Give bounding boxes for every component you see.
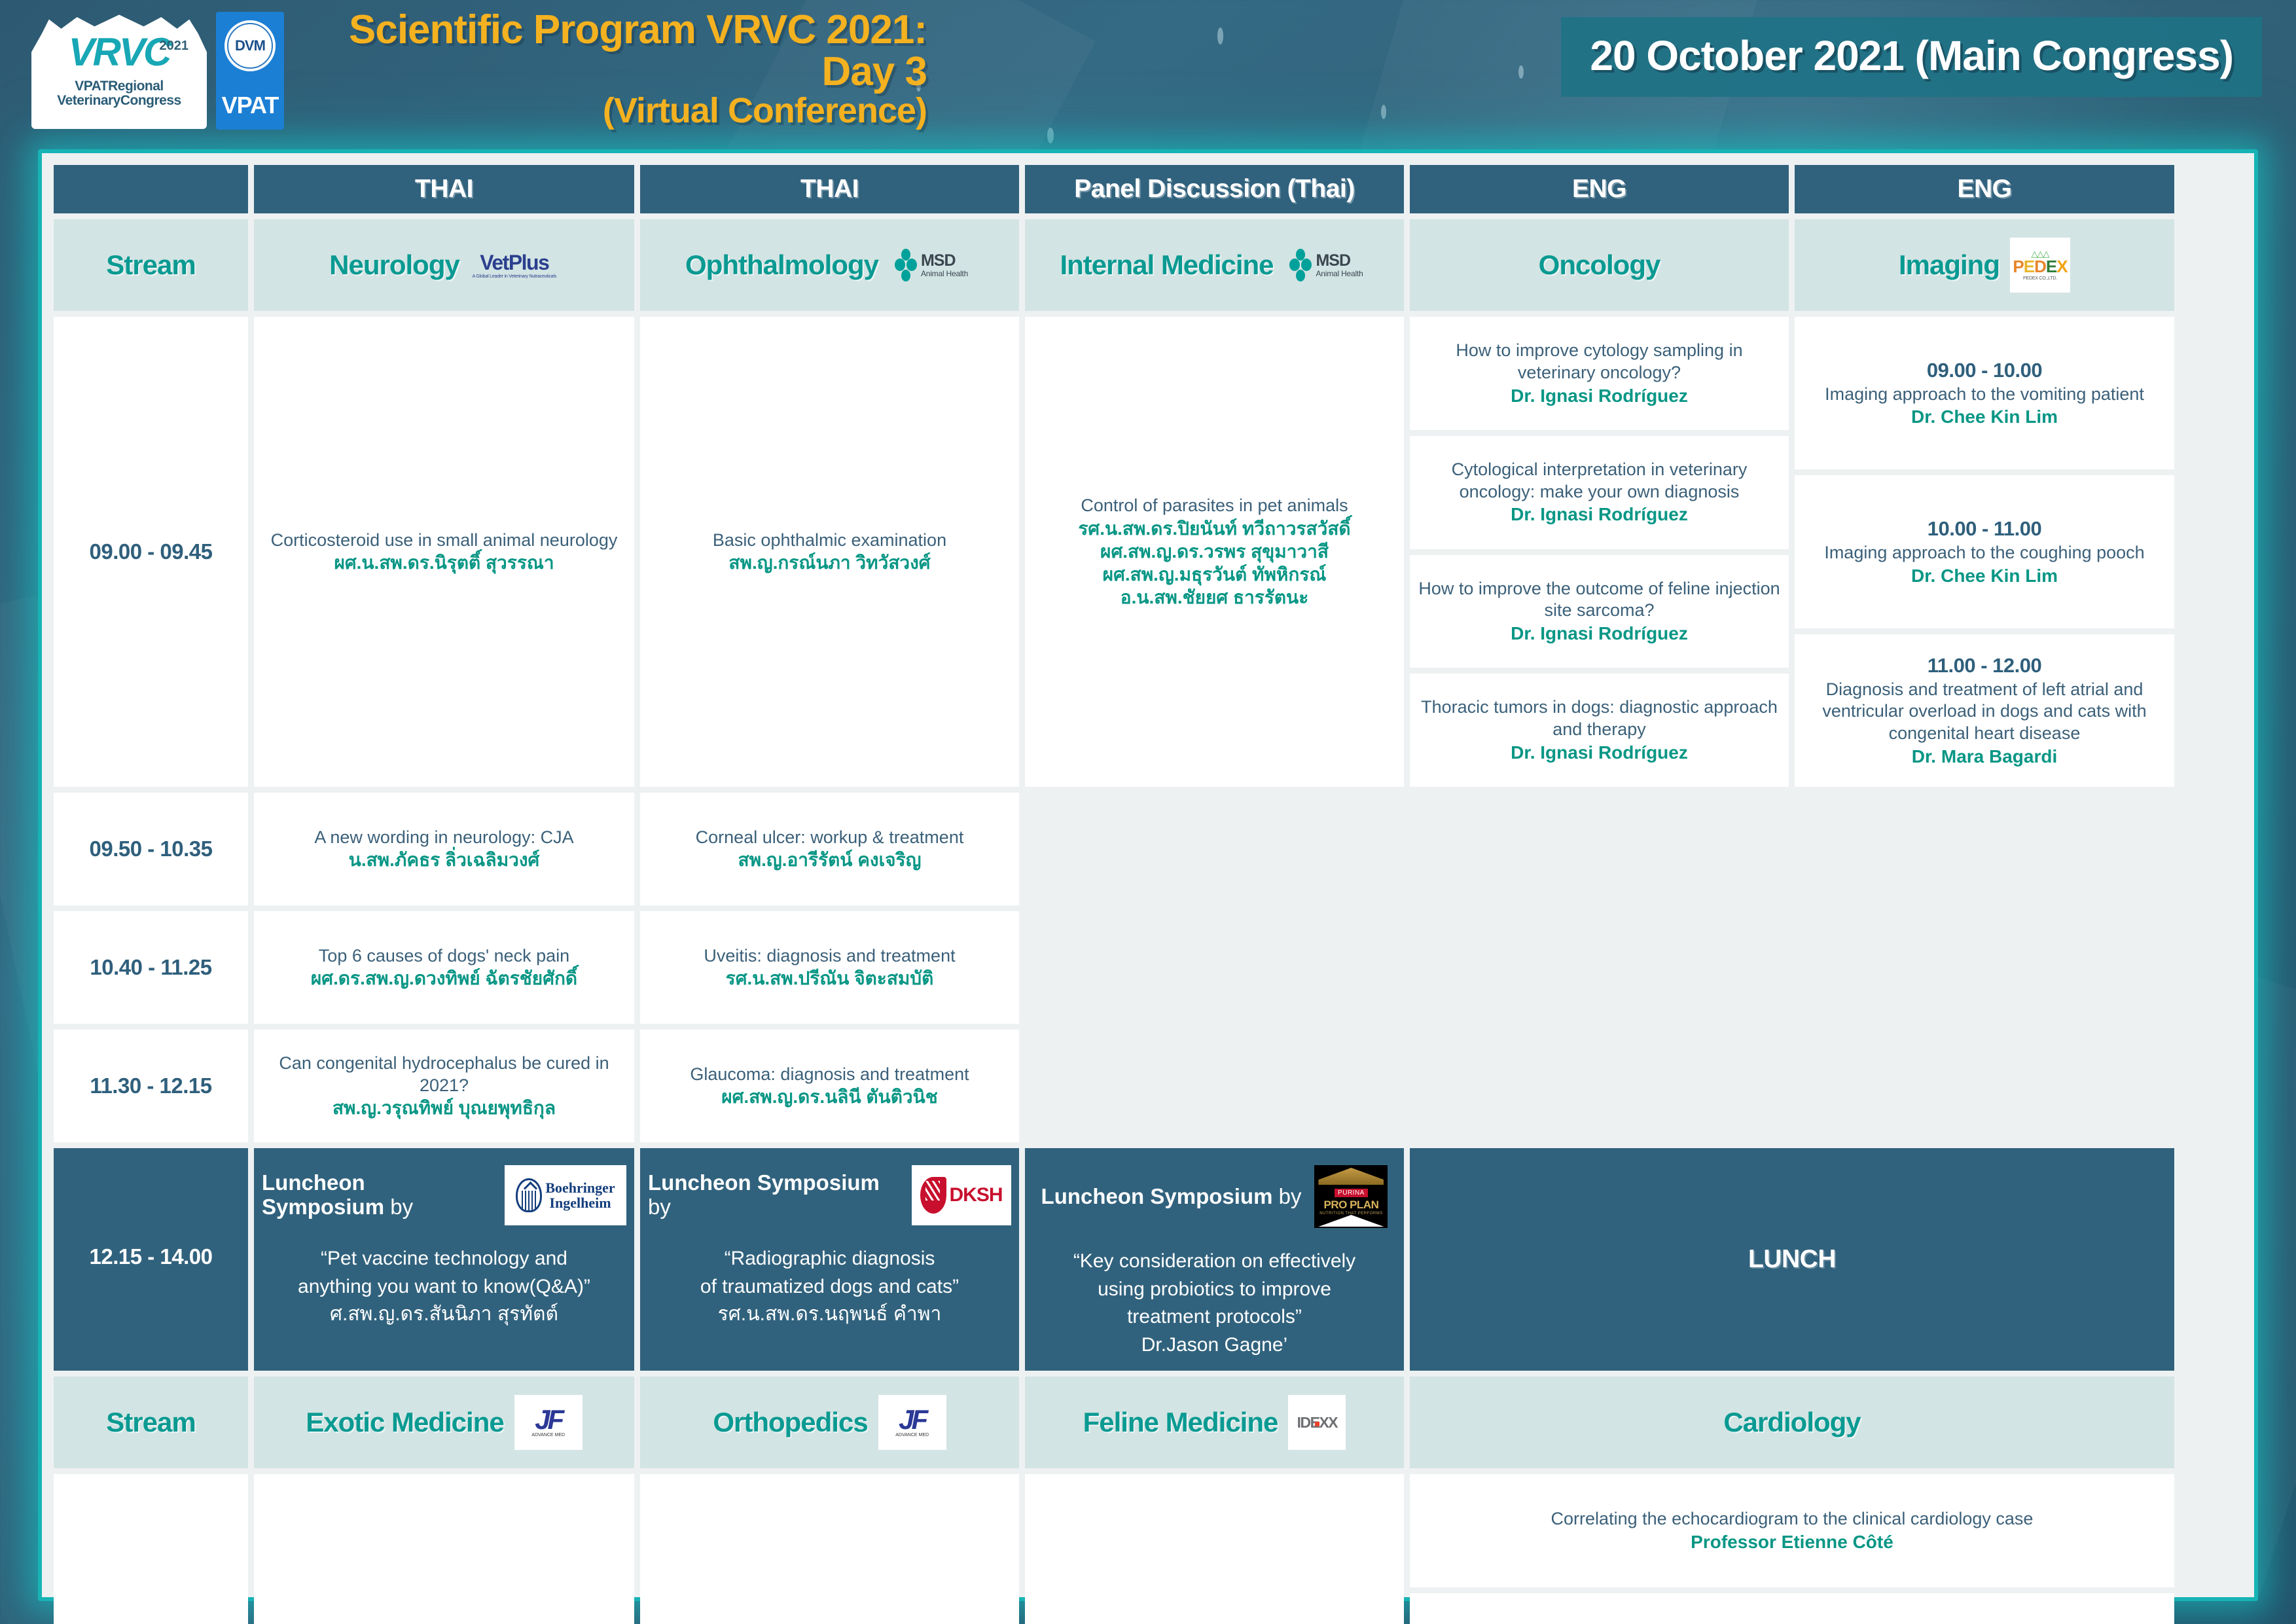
lang-cell-neurology: THAI [254, 165, 634, 213]
stream-name-imaging: Imaging [1899, 249, 2000, 281]
session-time: 10.00 - 11.00 [1928, 516, 2042, 542]
session-speaker: Dr. Ignasi Rodríguez [1511, 503, 1688, 526]
session-cell-cardiology[interactable]: Clinical approach to arrhythmias Profess… [1410, 1593, 2174, 1624]
vrvc-year-label: 2021 [160, 39, 189, 54]
page-title: Scientific Program VRVC 2021: Day 3 (Vir… [298, 0, 927, 129]
language-header-row: THAI THAI Panel Discussion (Thai) ENG EN… [54, 165, 2242, 213]
session-row-morning-1: 09.00 - 09.45 Corticosteroid use in smal… [54, 317, 2242, 787]
stream-name-neurology: Neurology [329, 249, 459, 281]
time-slot: 11.30 - 12.15 [54, 1030, 248, 1142]
luncheon-row: 12.15 - 14.00 Luncheon Symposium by Boeh… [54, 1148, 2242, 1371]
luncheon-quote-line: treatment protocols” [1073, 1303, 1355, 1331]
jf-advance-med-logo-icon: JFADVANCE MED [514, 1395, 583, 1450]
luncheon-body: “Pet vaccine technology and anything you… [298, 1245, 590, 1329]
session-speaker: Dr. Ignasi Rodríguez [1511, 622, 1688, 645]
luncheon-title: Luncheon Symposium [262, 1170, 384, 1219]
luncheon-heading: Luncheon Symposium by BoehringerIngelhei… [262, 1165, 626, 1225]
session-cell-oncology[interactable]: How to improve cytology sampling in vete… [1410, 317, 1789, 430]
session-cell-orthopedics[interactable]: Evaluation plan for MPL: how to make a g… [640, 1474, 1019, 1624]
lang-cell-empty [54, 165, 248, 213]
session-row-morning-2: 09.50 - 10.35 A new wording in neurology… [54, 793, 2242, 905]
page-header: VRVC VPATRegional VeterinaryCongress 202… [0, 0, 2296, 141]
session-cell-cardiology[interactable]: Correlating the echocardiogram to the cl… [1410, 1474, 2174, 1587]
luncheon-quote-line: “Pet vaccine technology and [298, 1245, 590, 1273]
stream-name-orthopedics: Orthopedics [713, 1407, 867, 1438]
time-slot: 14.00 - 14.45 [54, 1474, 248, 1624]
session-title: Corticosteroid use in small animal neuro… [271, 530, 618, 552]
pedex-logo-icon: △△△ PEDEX PEDEX CO.,LTD. [2010, 238, 2070, 293]
session-speaker: Dr. Ignasi Rodríguez [1511, 741, 1688, 764]
session-speaker: สพ.ญ.อารีรัตน์ คงเจริญ [738, 848, 922, 871]
luncheon-quote-line: “Radiographic diagnosis [700, 1245, 959, 1273]
session-title: Top 6 causes of dogs' neck pain [319, 945, 569, 967]
dksh-logo-icon: DKSH [912, 1165, 1011, 1225]
vpat-logo: DVM VPAT [216, 12, 284, 130]
session-row-morning-4: 11.30 - 12.15 Can congenital hydrocephal… [54, 1030, 2242, 1142]
stream-cell-feline-medicine[interactable]: Feline Medicine IDEXX [1025, 1377, 1404, 1468]
luncheon-quote-line: anything you want to know(Q&A)” [298, 1273, 590, 1301]
lang-cell-ophthalmology: THAI [640, 165, 1019, 213]
title-line-1: Scientific Program VRVC 2021: Day 3 [298, 9, 927, 93]
stream-cell-exotic-medicine[interactable]: Exotic Medicine JFADVANCE MED [254, 1377, 634, 1468]
stream-name-oncology: Oncology [1539, 249, 1660, 281]
session-title: Imaging approach to the vomiting patient [1825, 384, 2144, 406]
luncheon-quote-line: “Key consideration on effectively [1073, 1248, 1355, 1276]
session-speaker: Professor Etienne Côté [1691, 1530, 1893, 1553]
stream-cell-ophthalmology[interactable]: Ophthalmology MSDAnimal Health [640, 219, 1019, 311]
msd-animal-health-logo-icon: MSDAnimal Health [889, 240, 974, 290]
luncheon-body: “Key consideration on effectively using … [1073, 1248, 1355, 1359]
session-cell-internal-medicine-span[interactable]: Control of parasites in pet animals รศ.น… [1025, 317, 1404, 787]
session-title: Cytological interpretation in veterinary… [1418, 459, 1781, 503]
cardiology-column: Correlating the echocardiogram to the cl… [1410, 1474, 2174, 1624]
session-speaker: Dr. Ignasi Rodríguez [1511, 384, 1688, 407]
luncheon-quote-line: using probiotics to improve [1073, 1276, 1355, 1304]
vrvc-subtitle-2: VeterinaryCongress [31, 94, 207, 108]
session-title: Corneal ulcer: workup & treatment [696, 827, 964, 849]
session-cell-imaging[interactable]: 10.00 - 11.00 Imaging approach to the co… [1795, 475, 2174, 628]
logo-group: VRVC VPATRegional VeterinaryCongress 202… [0, 0, 284, 130]
schedule-grid: THAI THAI Panel Discussion (Thai) ENG EN… [54, 165, 2242, 1585]
session-cell-neurology[interactable]: Top 6 causes of dogs' neck pain ผศ.ดร.สพ… [254, 911, 634, 1024]
session-speaker: สพ.ญ.วรุณทิพย์ บุณยพุทธิกุล [332, 1096, 556, 1119]
msd-animal-health-logo-icon: MSDAnimal Health [1284, 240, 1369, 290]
stream-cell-imaging[interactable]: Imaging △△△ PEDEX PEDEX CO.,LTD. [1795, 219, 2174, 311]
luncheon-by: by [384, 1195, 413, 1219]
session-cell-ophthalmology[interactable]: Glaucoma: diagnosis and treatment ผศ.สพ.… [640, 1030, 1019, 1142]
stream-cell-cardiology[interactable]: Cardiology [1410, 1377, 2174, 1468]
session-speaker: น.สพ.ภัคธร ลิ่วเฉลิมวงศ์ [349, 848, 540, 871]
lunch-break-cell: LUNCH [1410, 1148, 2174, 1371]
vetplus-logo-icon: VetPlus A Global Leader in Veterinary Nu… [470, 242, 559, 288]
luncheon-cell-purina[interactable]: Luncheon Symposium by PURINA PRO PLAN NU… [1025, 1148, 1404, 1371]
feline-medicine-content: FeLV and related diseases in cats รศ.สพ.… [1025, 1474, 1404, 1624]
stream-cell-neurology[interactable]: Neurology VetPlus A Global Leader in Vet… [254, 219, 634, 311]
stream-label-cell: Stream [54, 219, 248, 311]
session-title: Diagnosis and treatment of left atrial a… [1801, 679, 2168, 745]
stream-header-row-morning: Stream Neurology VetPlus A Global Leader… [54, 219, 2242, 311]
purina-proplan-logo-icon: PURINA PRO PLAN NUTRITION THAT PERFORMS [1314, 1165, 1388, 1228]
vrvc-congress-logo: VRVC VPATRegional VeterinaryCongress 202… [31, 12, 207, 129]
session-cell-neurology[interactable]: A new wording in neurology: CJA น.สพ.ภัค… [254, 793, 634, 905]
session-title: How to improve the outcome of feline inj… [1418, 578, 1781, 623]
time-slot: 10.40 - 11.25 [54, 911, 248, 1024]
vrvc-subtitle-1: VPATRegional [31, 79, 207, 94]
session-title: A new wording in neurology: CJA [314, 827, 573, 849]
luncheon-speaker: รศ.น.สพ.ดร.นฤพนธ์ คำพา [700, 1301, 959, 1329]
session-title: Thoracic tumors in dogs: diagnostic appr… [1418, 696, 1781, 741]
vpat-wordmark: VPAT [222, 92, 279, 119]
session-cell-feline-span[interactable]: FeLV and related diseases in cats รศ.สพ.… [1025, 1474, 1404, 1624]
luncheon-heading: Luncheon Symposium by PURINA PRO PLAN NU… [1041, 1165, 1388, 1228]
stream-cell-internal-medicine[interactable]: Internal Medicine MSDAnimal Health [1025, 219, 1404, 311]
time-slot: 09.00 - 09.45 [54, 317, 248, 787]
luncheon-speaker: Dr.Jason Gagne’ [1073, 1331, 1355, 1360]
luncheon-cell-dksh[interactable]: Luncheon Symposium by DKSH “Radiographic… [640, 1148, 1019, 1371]
lang-cell-oncology: ENG [1410, 165, 1789, 213]
title-line-2: (Virtual Conference) [298, 93, 927, 130]
stream-label: Stream [106, 1407, 195, 1438]
luncheon-by: by [648, 1195, 671, 1219]
luncheon-heading: Luncheon Symposium by DKSH [648, 1165, 1011, 1225]
vpat-seal-icon: DVM [221, 17, 279, 75]
session-title: Correlating the echocardiogram to the cl… [1551, 1508, 2034, 1530]
stream-name-exotic-medicine: Exotic Medicine [306, 1407, 503, 1438]
session-cell-exotic[interactable]: How to treat pseudo-odontoma in squirrel… [254, 1474, 634, 1624]
session-cell-imaging[interactable]: 11.00 - 12.00 Diagnosis and treatment of… [1795, 634, 2174, 787]
session-cell-neurology[interactable]: Can congenital hydrocephalus be cured in… [254, 1030, 634, 1142]
session-title: Control of parasites in pet animals [1081, 495, 1348, 517]
session-time: 09.00 - 10.00 [1927, 358, 2042, 384]
stream-name-ophthalmology: Ophthalmology [685, 249, 878, 281]
date-badge: 20 October 2021 (Main Congress) [1561, 17, 2262, 97]
lang-cell-imaging: ENG [1795, 165, 2174, 213]
session-title: Basic ophthalmic examination [713, 530, 946, 552]
session-title: Can congenital hydrocephalus be cured in… [262, 1053, 626, 1097]
session-speaker: ผศ.สพ.ญ.ดร.วรพร สุขุมาวาสี [1100, 540, 1329, 563]
session-speaker: Dr. Chee Kin Lim [1911, 405, 2058, 428]
session-row-morning-3: 10.40 - 11.25 Top 6 causes of dogs' neck… [54, 911, 2242, 1024]
luncheon-title: Luncheon Symposium [648, 1170, 880, 1195]
oncology-column: How to improve cytology sampling in vete… [1410, 317, 1789, 787]
session-speaker: ผศ.ดร.สพ.ญ.ดวงทิพย์ ฉัตรชัยศักดิ์ [311, 967, 577, 990]
stream-cell-oncology[interactable]: Oncology [1410, 219, 1789, 311]
jf-advance-med-logo-icon: JFADVANCE MED [878, 1395, 946, 1450]
session-speaker: สพ.ญ.กรณ์นภา วิทวัสวงศ์ [728, 551, 930, 574]
time-slot-luncheon: 12.15 - 14.00 [54, 1148, 248, 1371]
session-title: How to improve cytology sampling in vete… [1418, 340, 1781, 384]
luncheon-title: Luncheon Symposium [1041, 1184, 1273, 1208]
session-speaker: อ.น.สพ.ชัยยศ ธารรัตนะ [1121, 586, 1308, 609]
imaging-column: 09.00 - 10.00 Imaging approach to the vo… [1795, 317, 2174, 787]
session-title: Glaucoma: diagnosis and treatment [690, 1064, 969, 1086]
session-speaker: ผศ.สพ.ญ.ดร.นลินี ตันติวนิช [721, 1085, 938, 1108]
session-cell-ophthalmology[interactable]: Corneal ulcer: workup & treatment สพ.ญ.อ… [640, 793, 1019, 905]
session-cell-ophthalmology[interactable]: Basic ophthalmic examination สพ.ญ.กรณ์นภ… [640, 317, 1019, 787]
session-title: Uveitis: diagnosis and treatment [704, 945, 955, 967]
session-cell-neurology[interactable]: Corticosteroid use in small animal neuro… [254, 317, 634, 787]
boehringer-ingelheim-logo-icon: BoehringerIngelheim [505, 1165, 626, 1225]
session-cell-imaging[interactable]: 09.00 - 10.00 Imaging approach to the vo… [1795, 317, 2174, 469]
stream-name-internal-medicine: Internal Medicine [1060, 249, 1273, 281]
idexx-logo-icon: IDEXX [1288, 1395, 1346, 1450]
session-speaker: รศ.น.สพ.ดร.ปิยนันท์ ทวีถาวรสวัสดิ์ [1078, 517, 1350, 540]
stream-header-row-afternoon: Stream Exotic Medicine JFADVANCE MED Ort… [54, 1377, 2242, 1468]
schedule-frame: THAI THAI Panel Discussion (Thai) ENG EN… [38, 149, 2258, 1601]
session-speaker: รศ.น.สพ.ปรีณัน จิตะสมบัติ [726, 967, 934, 990]
date-label: 20 October 2021 (Main Congress) [1590, 31, 2233, 80]
time-slot: 09.50 - 10.35 [54, 793, 248, 905]
session-speaker: ผศ.น.สพ.ดร.นิรุตติ์ สุวรรณา [334, 551, 554, 574]
luncheon-cell-boehringer[interactable]: Luncheon Symposium by BoehringerIngelhei… [254, 1148, 634, 1371]
stream-label: Stream [106, 249, 195, 281]
luncheon-quote-line: of traumatized dogs and cats” [700, 1273, 959, 1301]
stream-name-feline-medicine: Feline Medicine [1083, 1407, 1278, 1438]
session-speaker: ผศ.สพ.ญ.มธุรวันต์ ทัพหิกรณ์ [1103, 563, 1327, 586]
stream-name-cardiology: Cardiology [1723, 1407, 1860, 1438]
session-speaker: Dr. Mara Bagardi [1912, 745, 2058, 768]
session-cell-oncology[interactable]: Cytological interpretation in veterinary… [1410, 436, 1789, 549]
stream-label-cell: Stream [54, 1377, 248, 1468]
session-speaker: Dr. Chee Kin Lim [1911, 564, 2058, 587]
luncheon-speaker: ศ.สพ.ญ.ดร.สันนิภา สุรทัตต์ [298, 1301, 590, 1329]
session-time: 11.00 - 12.00 [1928, 653, 2042, 679]
vpat-dvm-label: DVM [235, 37, 265, 54]
luncheon-by: by [1272, 1184, 1301, 1208]
stream-cell-orthopedics[interactable]: Orthopedics JFADVANCE MED [640, 1377, 1019, 1468]
lang-cell-panel-discussion: Panel Discussion (Thai) [1025, 165, 1404, 213]
session-cell-oncology[interactable]: How to improve the outcome of feline inj… [1410, 555, 1789, 668]
session-title: Imaging approach to the coughing pooch [1824, 542, 2144, 564]
session-cell-oncology[interactable]: Thoracic tumors in dogs: diagnostic appr… [1410, 674, 1789, 787]
session-cell-ophthalmology[interactable]: Uveitis: diagnosis and treatment รศ.น.สพ… [640, 911, 1019, 1024]
session-row-afternoon-1: 14.00 - 14.45 How to treat pseudo-odonto… [54, 1474, 2242, 1624]
internal-medicine-content: Control of parasites in pet animals รศ.น… [1025, 317, 1404, 787]
luncheon-body: “Radiographic diagnosis of traumatized d… [700, 1245, 959, 1329]
